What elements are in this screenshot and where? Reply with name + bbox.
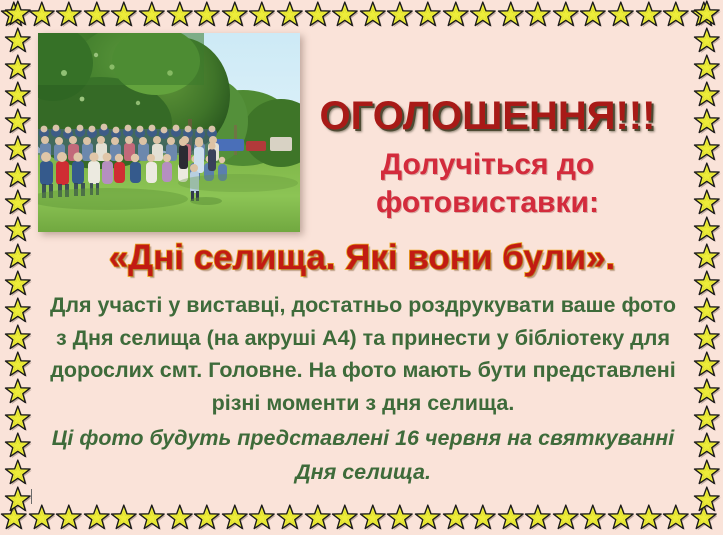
body-line-1: Для участі у виставці, достатньо роздрук…: [34, 289, 692, 322]
star-icon: [662, 1, 690, 28]
subtitle: Долучіться до фотовиставки:: [300, 146, 675, 222]
body-text: Для участі у виставці, достатньо роздрук…: [34, 289, 692, 489]
photo-artwork: [38, 33, 300, 232]
star-icon: [4, 486, 32, 513]
star-icon: [359, 1, 387, 28]
star-icon: [0, 1, 28, 28]
star-icon: [524, 504, 552, 531]
village-day-crowd-photo: [38, 33, 300, 232]
star-icon: [552, 1, 580, 28]
star-icon: [4, 135, 32, 162]
star-icon: [4, 405, 32, 432]
star-icon: [4, 459, 32, 486]
star-icon: [693, 135, 721, 162]
star-icon: [386, 1, 414, 28]
body-line-4: різні моменти з дня селища.: [34, 387, 692, 420]
star-icon: [4, 162, 32, 189]
star-icon: [221, 504, 249, 531]
star-icon: [331, 1, 359, 28]
star-icon: [4, 54, 32, 81]
star-icon: [579, 504, 607, 531]
star-icon: [248, 1, 276, 28]
star-icon: [4, 216, 32, 243]
star-icon: [4, 297, 32, 324]
star-icon: [607, 504, 635, 531]
star-icon: [4, 324, 32, 351]
star-icon: [693, 81, 721, 108]
star-icon: [0, 504, 28, 531]
body-line-5: Ці фото будуть представлені 16 червня на…: [34, 422, 692, 455]
star-icon: [4, 81, 32, 108]
star-icon: [497, 504, 525, 531]
star-icon: [579, 1, 607, 28]
star-icon: [110, 504, 138, 531]
star-icon: [193, 1, 221, 28]
subtitle-line-1: Долучіться до: [300, 146, 675, 184]
star-icon: [693, 324, 721, 351]
star-icon: [276, 504, 304, 531]
star-icon: [138, 1, 166, 28]
star-icon: [693, 486, 721, 513]
star-icon: [193, 504, 221, 531]
star-icon: [693, 432, 721, 459]
star-icon: [83, 504, 111, 531]
star-icon: [276, 1, 304, 28]
star-icon: [166, 1, 194, 28]
body-line-2: з Дня селища (на акруші А4) та принести …: [34, 322, 692, 355]
star-icon: [221, 1, 249, 28]
star-icon: [166, 504, 194, 531]
star-icon: [693, 0, 721, 27]
text-caret: [31, 489, 32, 504]
star-icon: [414, 504, 442, 531]
star-icon: [4, 378, 32, 405]
star-icon: [693, 54, 721, 81]
body-line-3: дорослих смт. Головне. На фото мають бут…: [34, 354, 692, 387]
star-icon: [28, 504, 56, 531]
star-icon: [693, 459, 721, 486]
star-icon: [693, 378, 721, 405]
body-line-6: Дня селища.: [34, 456, 692, 489]
star-icon: [693, 216, 721, 243]
star-border-bottom: [0, 504, 723, 531]
star-icon: [693, 351, 721, 378]
star-icon: [55, 1, 83, 28]
star-icon: [4, 432, 32, 459]
star-icon: [635, 504, 663, 531]
star-icon: [83, 1, 111, 28]
star-icon: [304, 504, 332, 531]
star-icon: [690, 1, 718, 28]
star-icon: [331, 504, 359, 531]
star-icon: [442, 504, 470, 531]
star-icon: [635, 1, 663, 28]
star-icon: [497, 1, 525, 28]
star-icon: [4, 27, 32, 54]
star-icon: [693, 108, 721, 135]
star-icon: [693, 405, 721, 432]
announcement-poster: ОГОЛОШЕННЯ!!! Долучіться до фотовиставки…: [0, 0, 723, 535]
star-icon: [469, 1, 497, 28]
star-icon: [693, 27, 721, 54]
star-icon: [693, 189, 721, 216]
star-icon: [4, 108, 32, 135]
star-icon: [4, 189, 32, 216]
star-icon: [4, 351, 32, 378]
star-icon: [607, 1, 635, 28]
star-icon: [552, 504, 580, 531]
star-icon: [110, 1, 138, 28]
star-icon: [304, 1, 332, 28]
star-icon: [414, 1, 442, 28]
star-icon: [524, 1, 552, 28]
star-icon: [469, 504, 497, 531]
star-icon: [386, 504, 414, 531]
star-border-top: [0, 1, 723, 28]
star-icon: [359, 504, 387, 531]
subtitle-line-2: фотовиставки:: [300, 184, 675, 222]
star-icon: [442, 1, 470, 28]
exhibition-title: «Дні селища. Які вони були».: [26, 240, 698, 275]
star-icon: [693, 297, 721, 324]
star-icon: [4, 0, 32, 27]
star-icon: [248, 504, 276, 531]
star-icon: [55, 504, 83, 531]
star-icon: [28, 1, 56, 28]
star-icon: [662, 504, 690, 531]
page-title: ОГОЛОШЕННЯ!!!: [300, 96, 675, 136]
star-icon: [138, 504, 166, 531]
star-icon: [690, 504, 718, 531]
star-icon: [693, 162, 721, 189]
